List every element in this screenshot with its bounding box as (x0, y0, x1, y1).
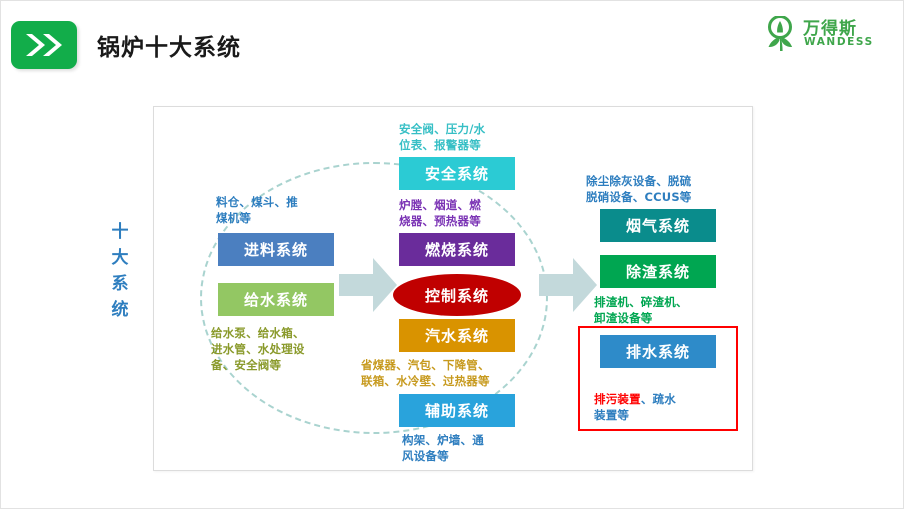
vertical-section-label: 十 大 系 统 (105, 219, 135, 323)
caption-drainage-highlight: 排污装置 (594, 392, 641, 406)
box-control-system[interactable]: 控制系统 (393, 274, 521, 316)
box-safety-system[interactable]: 安全系统 (399, 157, 515, 190)
box-feed-system[interactable]: 进料系统 (218, 233, 334, 266)
box-combustion-system[interactable]: 燃烧系统 (399, 233, 515, 266)
caption-fluegas-system: 除尘除灰设备、脱硫 脱硝设备、CCUS等 (586, 173, 746, 205)
slide-canvas: 锅炉十大系统 万得斯 WANDESS 十 大 系 统 (0, 0, 904, 509)
box-fluegas-system[interactable]: 烟气系统 (600, 209, 716, 242)
box-drainage-system[interactable]: 排水系统 (600, 335, 716, 368)
vertical-char-4: 统 (105, 297, 135, 323)
flow-arrow-left-to-center (337, 254, 399, 316)
slide-header: 锅炉十大系统 万得斯 WANDESS (1, 1, 904, 83)
vertical-char-3: 系 (105, 271, 135, 297)
caption-drainage-system: 排污装置、疏水 装置等 (594, 375, 742, 423)
brand-name-en: WANDESS (804, 36, 874, 48)
double-chevron-right-icon (11, 21, 77, 69)
caption-feed-system: 料仓、煤斗、推 煤机等 (216, 194, 340, 226)
box-feedwater-system[interactable]: 给水系统 (218, 283, 334, 316)
flow-arrow-center-to-right (537, 254, 599, 316)
box-steam-water-system[interactable]: 汽水系统 (399, 319, 515, 352)
vertical-char-2: 大 (105, 245, 135, 271)
wandess-plant-logo-icon (763, 16, 797, 52)
caption-slag-removal-system: 排渣机、碎渣机、 卸渣设备等 (594, 294, 740, 326)
caption-safety-system: 安全阀、压力/水 位表、报警器等 (399, 121, 531, 153)
diagram-panel: 料仓、煤斗、推 煤机等 进料系统 给水系统 给水泵、给水箱、 进水管、水处理设 … (153, 106, 753, 471)
brand-logo: 万得斯 WANDESS (763, 13, 883, 57)
caption-auxiliary-system: 构架、炉墙、通 风设备等 (402, 432, 534, 464)
box-auxiliary-system[interactable]: 辅助系统 (399, 394, 515, 427)
caption-combustion-system: 炉膛、烟道、燃 烧器、预热器等 (399, 197, 531, 229)
caption-steam-water-system: 省煤器、汽包、下降管、 联箱、水冷壁、过热器等 (361, 357, 557, 389)
box-slag-removal-system[interactable]: 除渣系统 (600, 255, 716, 288)
page-title: 锅炉十大系统 (97, 28, 241, 62)
caption-feedwater-system: 给水泵、给水箱、 进水管、水处理设 备、安全阀等 (211, 325, 343, 373)
vertical-char-1: 十 (105, 219, 135, 245)
